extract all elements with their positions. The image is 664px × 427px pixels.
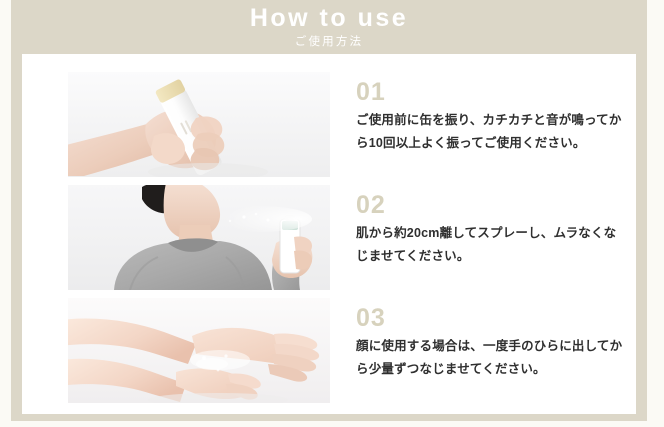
content-card: 01 ご使用前に缶を振り、カチカチと音が鳴ってから10回以上よく振ってご使用くだ… [22,54,636,414]
step-photo-hand-holding-can [68,72,330,177]
how-to-use-page: How to use ご使用方法 [0,0,664,427]
step-item: 02 肌から約20cm離してスプレーし、ムラなくなじませてください。 [22,185,636,293]
step-item: 01 ご使用前に缶を振り、カチカチと音が鳴ってから10回以上よく振ってご使用くだ… [22,72,636,180]
step-description: 肌から約20cm離してスプレーし、ムラなくなじませてください。 [356,222,628,268]
step-body: 01 ご使用前に缶を振り、カチカチと音が鳴ってから10回以上よく振ってご使用くだ… [356,72,636,155]
step-number: 02 [356,193,636,218]
frame-rail-right [636,54,647,421]
frame-rail-left [11,54,22,421]
step-body: 02 肌から約20cm離してスプレーし、ムラなくなじませてください。 [356,185,636,268]
step-number: 01 [356,80,636,105]
step-number: 03 [356,306,636,331]
steps-list: 01 ご使用前に缶を振り、カチカチと音が鳴ってから10回以上よく振ってご使用くだ… [22,54,636,414]
step-photo-hands-rubbing [68,298,330,403]
frame-rail-bottom [11,414,647,421]
step-description: ご使用前に缶を振り、カチカチと音が鳴ってから10回以上よく振ってご使用ください。 [356,109,628,155]
step-description: 顔に使用する場合は、一度手のひらに出してから少量ずつなじませてください。 [356,335,628,381]
step-item: 03 顔に使用する場合は、一度手のひらに出してから少量ずつなじませてください。 [22,298,636,406]
step-photo-spraying-face [68,185,330,290]
header-band [11,0,647,54]
step-body: 03 顔に使用する場合は、一度手のひらに出してから少量ずつなじませてください。 [356,298,636,381]
